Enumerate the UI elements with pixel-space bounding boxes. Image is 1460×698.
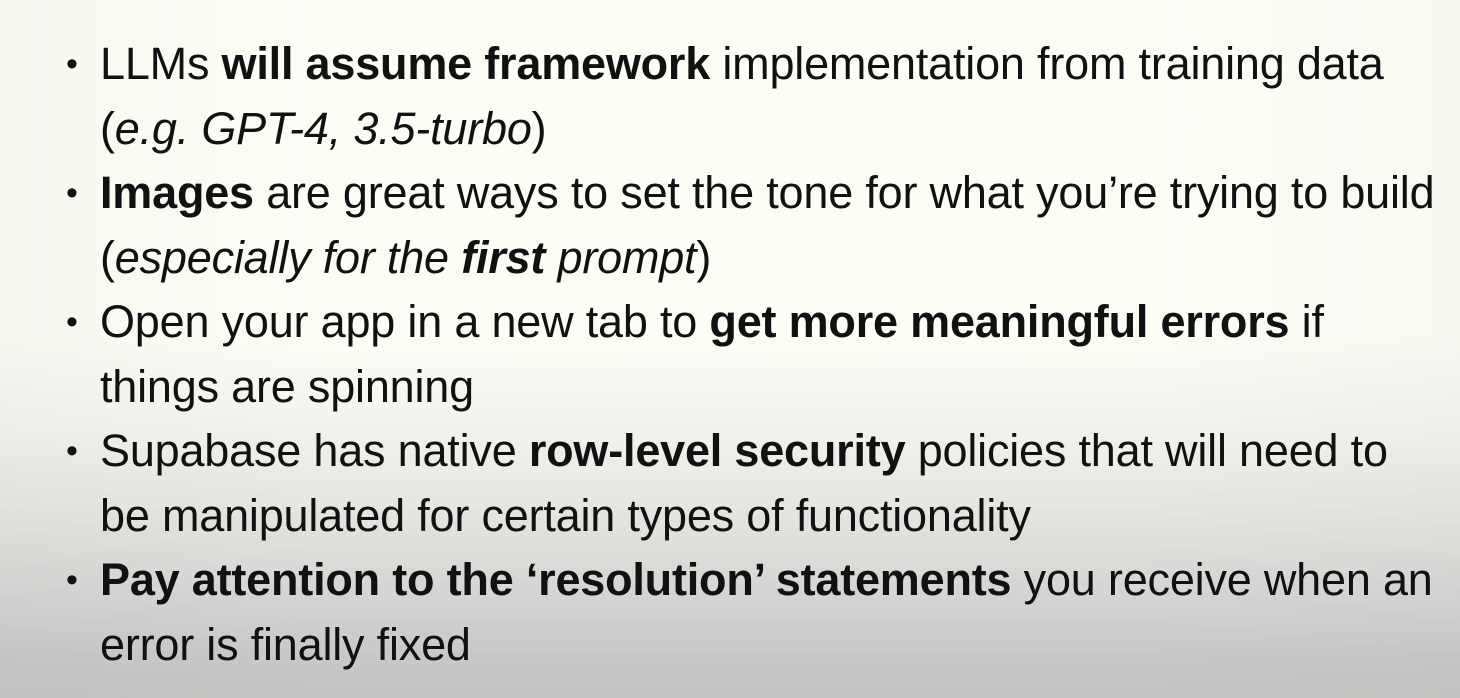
text-run: get more meaningful errors — [709, 296, 1289, 347]
slide-canvas: •LLMs will assume framework implementati… — [0, 0, 1460, 698]
bullet-point-icon: • — [66, 161, 80, 226]
text-run: e.g. GPT-4, 3.5-turbo — [115, 103, 532, 154]
text-run: LLMs — [100, 38, 222, 89]
text-run: Pay attention to the ‘resolution’ statem… — [100, 554, 1011, 605]
bullet-text: Supabase has native row-level security p… — [100, 425, 1400, 541]
bullet-list: •LLMs will assume framework implementati… — [58, 32, 1442, 677]
bullet-item: •LLMs will assume framework implementati… — [58, 32, 1442, 161]
text-run: Open your app in a new tab to — [100, 296, 709, 347]
text-run: prompt — [545, 232, 696, 283]
bullet-item: •Open your app in a new tab to get more … — [58, 290, 1442, 419]
text-run: especially for the — [115, 232, 461, 283]
text-run: ) — [696, 232, 711, 283]
bullet-point-icon: • — [66, 548, 80, 613]
bullet-item: •Pay attention to the ‘resolution’ state… — [58, 548, 1442, 677]
bullet-point-icon: • — [66, 32, 80, 97]
text-run: ) — [532, 103, 547, 154]
bullet-item: •Images are great ways to set the tone f… — [58, 161, 1442, 290]
text-run: first — [461, 232, 545, 283]
bullet-point-icon: • — [66, 290, 80, 355]
bullet-text: Images are great ways to set the tone fo… — [100, 167, 1447, 283]
bullet-item: •Supabase has native row-level security … — [58, 419, 1442, 548]
text-run: Supabase has native — [100, 425, 529, 476]
bullet-text: Pay attention to the ‘resolution’ statem… — [100, 554, 1445, 670]
bullet-point-icon: • — [66, 419, 80, 484]
bullet-text: Open your app in a new tab to get more m… — [100, 296, 1336, 412]
text-run: row-level security — [529, 425, 906, 476]
bullet-text: LLMs will assume framework implementatio… — [100, 38, 1396, 154]
text-run: Images — [100, 167, 254, 218]
text-run: will assume framework — [222, 38, 711, 89]
